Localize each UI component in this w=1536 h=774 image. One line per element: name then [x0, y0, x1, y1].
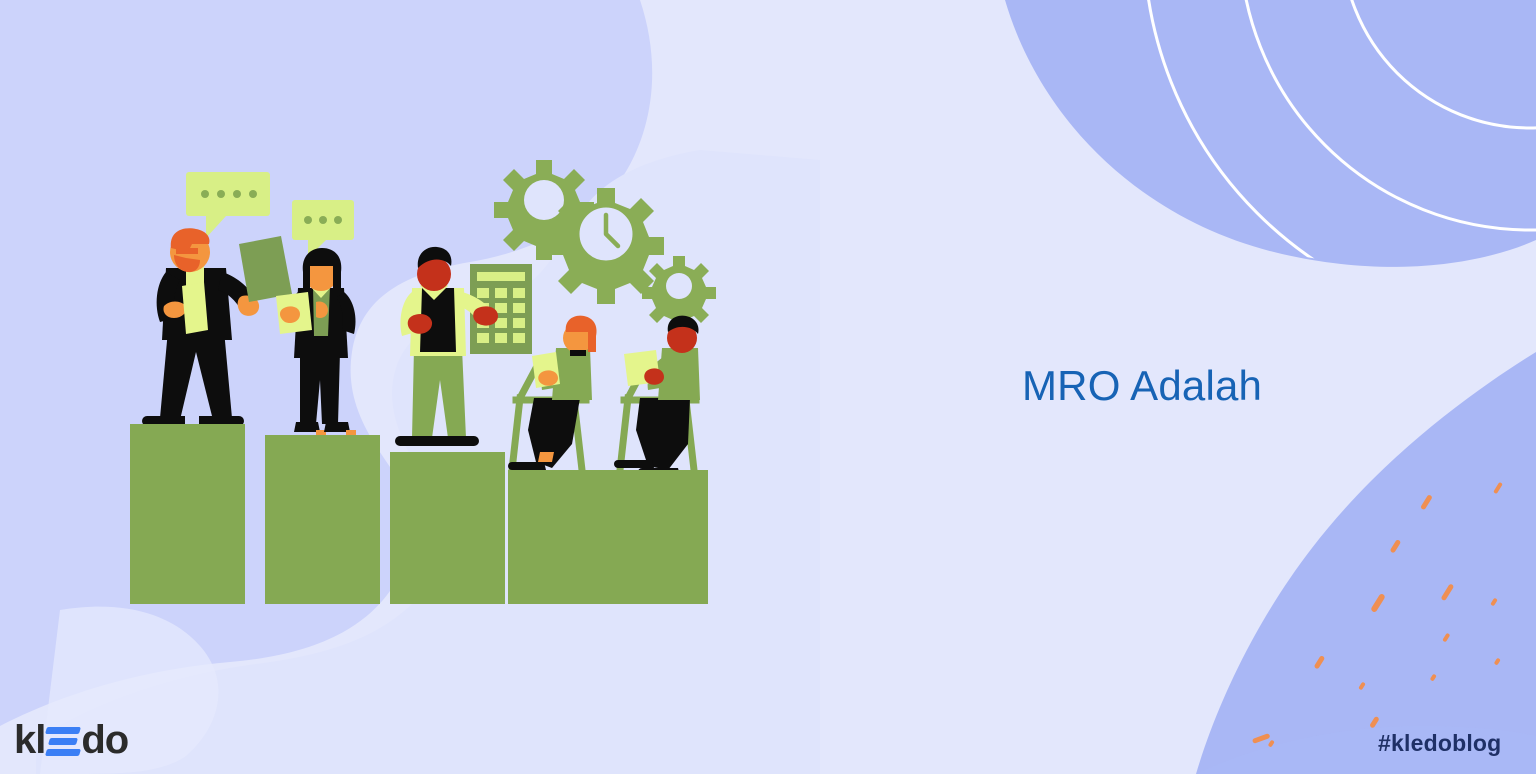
kledo-logo[interactable]: kl do [14, 718, 128, 762]
logo-text-before: kl [14, 720, 45, 760]
business-growth-illustration [0, 0, 1536, 774]
speech-bubble-large [186, 172, 270, 238]
bar-1 [130, 424, 245, 604]
kledo-e-mark-icon [46, 723, 80, 757]
bar-4 [508, 470, 708, 604]
logo-text-after: do [81, 720, 128, 760]
page-title: MRO Adalah [1022, 362, 1262, 410]
figure-standing-man-presenter [142, 228, 292, 426]
clock-gear-icon [548, 188, 664, 304]
figure-seated-man [614, 316, 700, 476]
poster-canvas: MRO Adalah #kledoblog kl do [0, 0, 1536, 774]
bar-2 [265, 435, 380, 604]
hashtag-label: #kledoblog [1378, 730, 1501, 757]
bar-3 [390, 452, 505, 604]
